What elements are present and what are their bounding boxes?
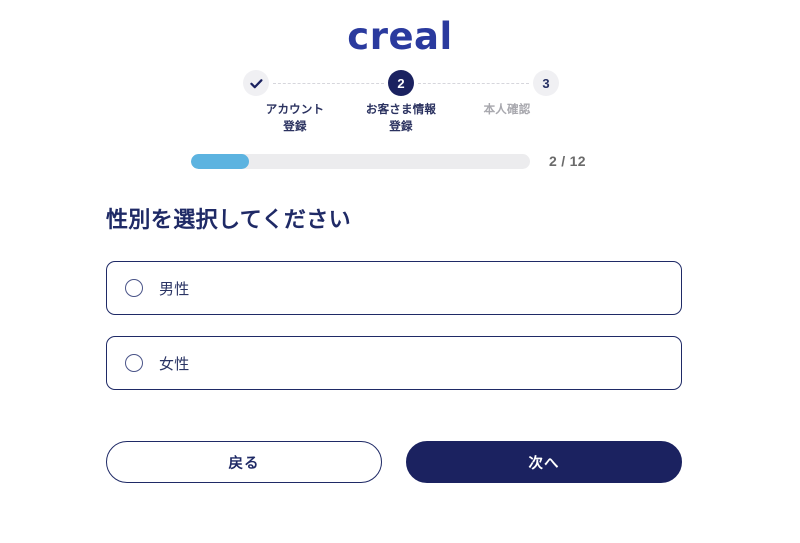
stepper-rail: 2 3 <box>243 69 559 97</box>
signup-gender-page: creal 2 3 アカウント 登録 お客さま情報 登録 <box>0 0 800 543</box>
page-title: 性別を選択してください <box>106 206 351 235</box>
step-label-identity-line1: 本人確認 <box>484 104 531 116</box>
step-label-customer-info-line1: お客さま情報 <box>366 104 436 116</box>
creal-logo: creal <box>347 18 452 55</box>
step-label-customer-info-line2: 登録 <box>349 119 453 136</box>
progress-track <box>191 154 530 169</box>
gender-option-male-label: 男性 <box>159 278 190 299</box>
gender-option-group: 男性 女性 <box>106 261 682 411</box>
gender-option-female[interactable]: 女性 <box>106 336 682 390</box>
step-indicator-customer-info[interactable]: 2 <box>388 70 414 96</box>
step-indicator-account[interactable] <box>243 70 269 96</box>
step-label-account: アカウント 登録 <box>243 102 347 135</box>
stepper-connector-2 <box>418 83 529 84</box>
radio-icon-male[interactable] <box>125 279 143 297</box>
progress-count: 2 / 12 <box>549 153 586 169</box>
form-actions: 戻る 次へ <box>106 441 682 483</box>
step-label-account-line2: 登録 <box>243 119 347 136</box>
next-button[interactable]: 次へ <box>406 441 682 483</box>
gender-option-male[interactable]: 男性 <box>106 261 682 315</box>
stepper-connector-1 <box>273 83 384 84</box>
brand-header: creal <box>0 18 800 55</box>
radio-icon-female[interactable] <box>125 354 143 372</box>
back-button[interactable]: 戻る <box>106 441 382 483</box>
step-indicator-identity[interactable]: 3 <box>533 70 559 96</box>
step-label-identity: 本人確認 <box>455 102 559 135</box>
gender-option-female-label: 女性 <box>159 353 190 374</box>
progress-fill <box>191 154 249 169</box>
step-label-account-line1: アカウント <box>266 104 325 116</box>
signup-stepper: 2 3 アカウント 登録 お客さま情報 登録 本人確認 <box>243 69 559 145</box>
progress-row: 2 / 12 <box>191 152 601 170</box>
stepper-labels: アカウント 登録 お客さま情報 登録 本人確認 <box>243 102 559 135</box>
check-icon <box>249 76 264 91</box>
step-label-customer-info: お客さま情報 登録 <box>349 102 453 135</box>
